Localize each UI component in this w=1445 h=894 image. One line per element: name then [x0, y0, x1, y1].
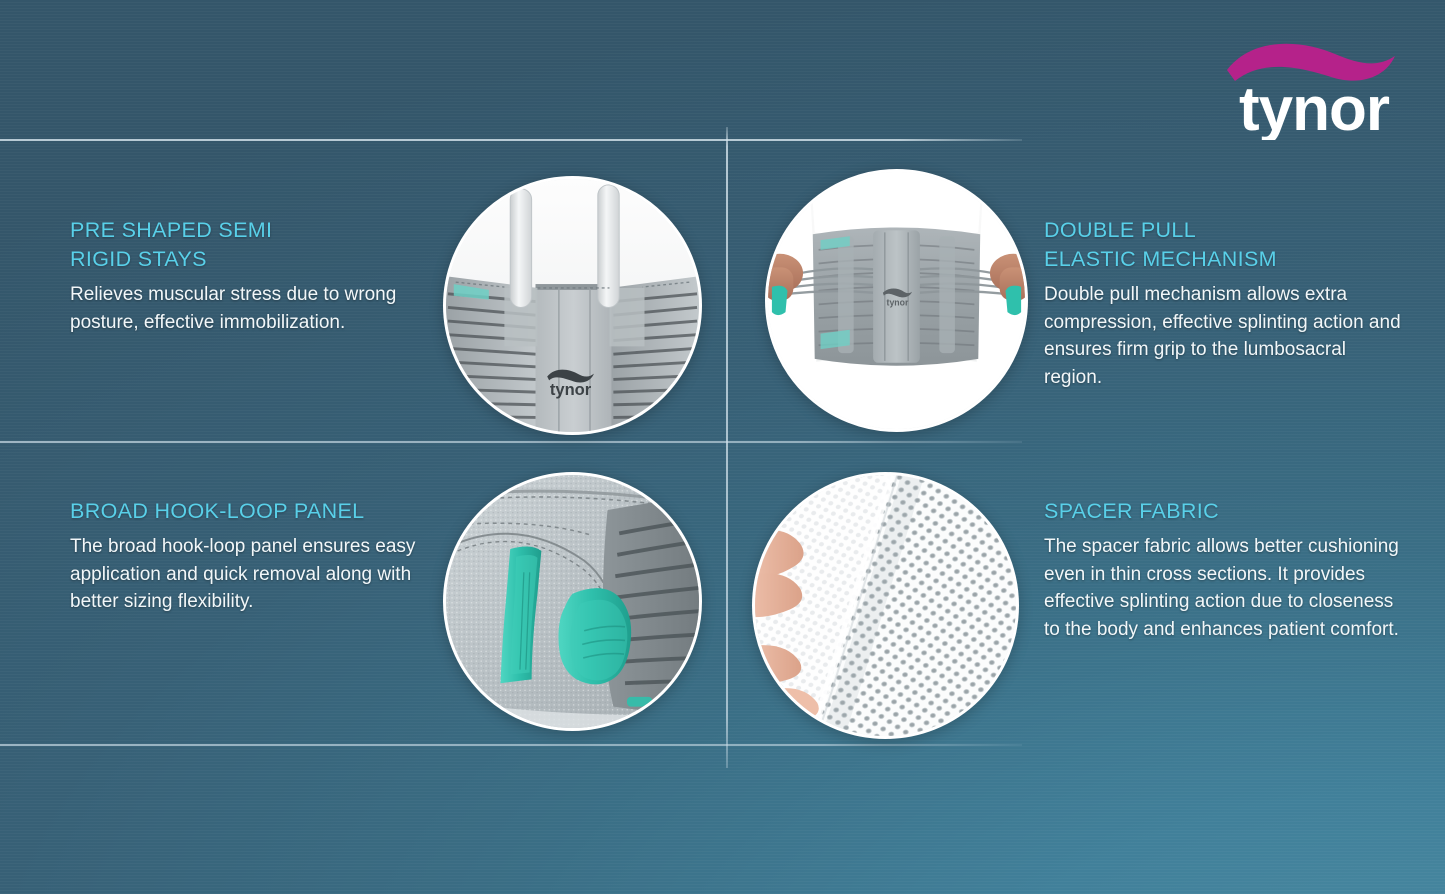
logo-wordmark: tynor: [1239, 75, 1390, 140]
feature-text-pre-shaped-semi-rigid-stays: PRE SHAPED SEMI RIGID STAYS Relieves mus…: [70, 216, 400, 336]
feature-text-spacer-fabric: SPACER FABRIC The spacer fabric allows b…: [1044, 497, 1404, 643]
feature-body: The spacer fabric allows better cushioni…: [1044, 533, 1404, 643]
teal-grip-right: [558, 588, 631, 684]
feature-image-broad-hook-loop-panel: [443, 472, 702, 731]
feature-body: The broad hook-loop panel ensures easy a…: [70, 533, 420, 616]
feature-image-double-pull-elastic-mechanism: tynor: [765, 169, 1028, 432]
feature-headline: BROAD HOOK-LOOP PANEL: [70, 497, 420, 526]
feature-headline: SPACER FABRIC: [1044, 497, 1404, 526]
feature-image-spacer-fabric: [752, 472, 1019, 739]
divider-top: [0, 139, 1022, 141]
feature-text-double-pull-elastic-mechanism: DOUBLE PULL ELASTIC MECHANISM Double pul…: [1044, 216, 1404, 391]
feature-headline: PRE SHAPED SEMI RIGID STAYS: [70, 216, 400, 274]
divider-vertical: [726, 127, 728, 768]
svg-text:tynor: tynor: [887, 297, 909, 307]
feature-image-pre-shaped-semi-rigid-stays: tynor: [443, 176, 702, 435]
divider-bottom: [0, 744, 1022, 746]
feature-text-broad-hook-loop-panel: BROAD HOOK-LOOP PANEL The broad hook-loo…: [70, 497, 420, 616]
infographic-canvas: tynor: [0, 0, 1445, 894]
feature-body: Double pull mechanism allows extra compr…: [1044, 281, 1404, 391]
feature-headline: DOUBLE PULL ELASTIC MECHANISM: [1044, 216, 1404, 274]
svg-text:tynor: tynor: [550, 380, 592, 399]
feature-body: Relieves muscular stress due to wrong po…: [70, 281, 400, 336]
divider-middle: [0, 441, 1022, 443]
tynor-logo: tynor: [1219, 34, 1409, 140]
